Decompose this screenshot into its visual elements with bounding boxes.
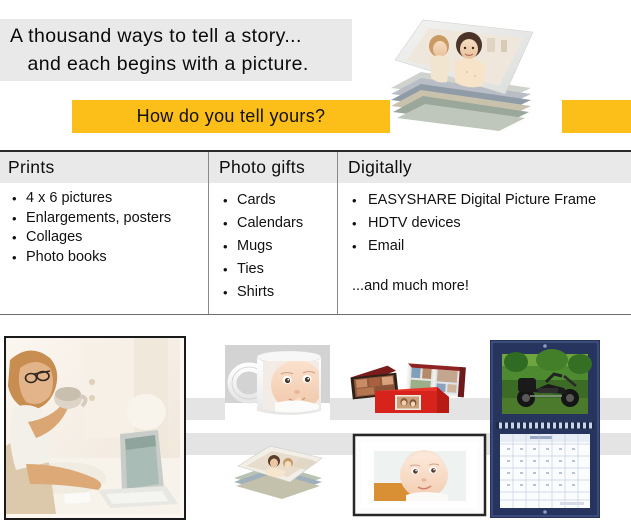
list-item: EASYSHARE Digital Picture Frame <box>338 189 631 212</box>
list-item: Ties <box>209 258 337 281</box>
call-to-action-text: How do you tell yours? <box>72 100 390 133</box>
list-item: Collages <box>0 228 208 248</box>
offerings-table: Prints 4 x 6 pictures Enlargements, post… <box>0 150 631 315</box>
photo-print-stack-image <box>230 438 326 500</box>
list-item: Enlargements, posters <box>0 209 208 229</box>
list-item: Calendars <box>209 212 337 235</box>
wall-calendar-image <box>490 340 600 518</box>
list-item: Cards <box>209 189 337 212</box>
list-item: 4 x 6 pictures <box>0 189 208 209</box>
woman-with-laptop-image <box>4 336 186 520</box>
column-header-digitally: Digitally <box>338 152 631 183</box>
photo-gifts-list: Cards Calendars Mugs Ties Shirts <box>209 183 337 304</box>
table-column-digitally: Digitally EASYSHARE Digital Picture Fram… <box>337 152 631 314</box>
digitally-footnote: ...and much more! <box>338 258 631 294</box>
prints-list: 4 x 6 pictures Enlargements, posters Col… <box>0 183 208 267</box>
list-item: Mugs <box>209 235 337 258</box>
table-column-photo-gifts: Photo gifts Cards Calendars Mugs Ties Sh… <box>208 152 337 314</box>
call-to-action-banner: How do you tell yours? <box>72 100 390 133</box>
digitally-list: EASYSHARE Digital Picture Frame HDTV dev… <box>338 183 631 258</box>
page-title: A thousand ways to tell a story... and e… <box>10 22 355 78</box>
photo-books-image <box>345 357 473 427</box>
list-item: HDTV devices <box>338 212 631 235</box>
photo-mug-image <box>225 345 330 427</box>
list-item: Photo books <box>0 248 208 268</box>
digital-picture-frame-image <box>352 433 487 517</box>
list-item: Shirts <box>209 281 337 304</box>
hero-photo-stack-image <box>383 2 533 135</box>
column-header-photo-gifts: Photo gifts <box>209 152 337 183</box>
column-header-prints: Prints <box>0 152 208 183</box>
table-column-prints: Prints 4 x 6 pictures Enlargements, post… <box>0 152 208 314</box>
list-item: Email <box>338 235 631 258</box>
accent-block-right <box>562 100 631 133</box>
